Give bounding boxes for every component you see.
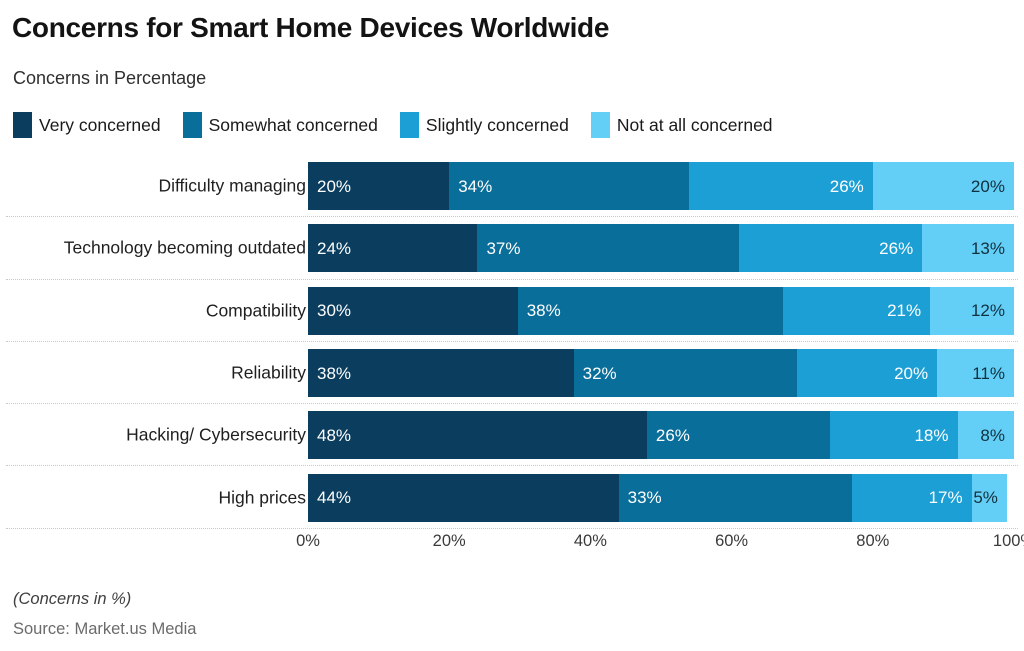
- category-label: High prices: [218, 487, 306, 508]
- legend-item-0[interactable]: Very concerned: [13, 112, 161, 138]
- chart-page: Concerns for Smart Home Devices Worldwid…: [0, 0, 1024, 651]
- bar-segment-value: 26%: [830, 178, 864, 195]
- bar-segment-value: 11%: [972, 365, 1005, 382]
- bar-segment[interactable]: 32%: [574, 349, 798, 397]
- bar-segment[interactable]: 12%: [930, 287, 1014, 335]
- bar-segment[interactable]: 48%: [308, 411, 647, 459]
- chart-legend: Very concernedSomewhat concernedSlightly…: [13, 112, 795, 138]
- chart-subtitle: Concerns in Percentage: [13, 68, 206, 89]
- category-label: Compatibility: [206, 300, 306, 321]
- bar-segment[interactable]: 38%: [308, 349, 574, 397]
- bar-segment[interactable]: 5%: [972, 474, 1007, 522]
- bar-segment-value: 20%: [971, 178, 1005, 195]
- legend-item-1[interactable]: Somewhat concerned: [183, 112, 378, 138]
- bar-segment-value: 20%: [894, 365, 928, 382]
- bar-segment[interactable]: 44%: [308, 474, 619, 522]
- chart-row: Compatibility30%38%21%12%: [0, 280, 1024, 342]
- chart-row: Hacking/ Cybersecurity48%26%18%8%: [0, 404, 1024, 466]
- bar-segment[interactable]: 17%: [852, 474, 972, 522]
- legend-item-2[interactable]: Slightly concerned: [400, 112, 569, 138]
- bar-segment-value: 8%: [980, 427, 1005, 444]
- bar-segment[interactable]: 30%: [308, 287, 518, 335]
- bar-segment[interactable]: 20%: [873, 162, 1014, 210]
- bar-segment[interactable]: 8%: [958, 411, 1014, 459]
- bar-segment-value: 48%: [317, 427, 351, 444]
- x-axis-tick-label: 80%: [856, 532, 889, 551]
- category-label: Technology becoming outdated: [64, 238, 306, 259]
- chart-row: Reliability38%32%20%11%: [0, 342, 1024, 404]
- legend-item-3[interactable]: Not at all concerned: [591, 112, 773, 138]
- legend-swatch-icon: [400, 112, 419, 138]
- chart-plot-area: Difficulty managing20%34%26%20%Technolog…: [0, 155, 1024, 530]
- bar-segment[interactable]: 37%: [477, 224, 738, 272]
- chart-source: Source: Market.us Media: [13, 620, 196, 639]
- stacked-bar: 48%26%18%8%: [308, 411, 1014, 459]
- category-label: Reliability: [231, 363, 306, 384]
- bar-segment-value: 32%: [583, 365, 617, 382]
- bar-segment[interactable]: 38%: [518, 287, 784, 335]
- x-axis-tick-label: 0%: [296, 532, 320, 551]
- category-label: Difficulty managing: [158, 176, 306, 197]
- bar-segment-value: 24%: [317, 240, 351, 257]
- legend-swatch-icon: [591, 112, 610, 138]
- legend-item-label: Not at all concerned: [617, 115, 773, 136]
- bar-segment-value: 5%: [973, 489, 998, 506]
- legend-item-label: Slightly concerned: [426, 115, 569, 136]
- stacked-bar: 38%32%20%11%: [308, 349, 1014, 397]
- bar-segment-value: 18%: [914, 427, 948, 444]
- bar-segment-value: 34%: [458, 178, 492, 195]
- bar-segment[interactable]: 13%: [922, 224, 1014, 272]
- chart-row: High prices44%33%17%5%: [0, 466, 1024, 528]
- bar-segment-value: 33%: [628, 489, 662, 506]
- bar-segment[interactable]: 26%: [647, 411, 831, 459]
- stacked-bar: 20%34%26%20%: [308, 162, 1014, 210]
- chart-row: Difficulty managing20%34%26%20%: [0, 155, 1024, 217]
- bar-segment-value: 30%: [317, 302, 351, 319]
- chart-row: Technology becoming outdated24%37%26%13%: [0, 217, 1024, 279]
- x-axis: 0%20%40%60%80%100%: [308, 532, 1014, 556]
- legend-item-label: Very concerned: [39, 115, 161, 136]
- bar-segment[interactable]: 34%: [449, 162, 689, 210]
- bar-segment[interactable]: 33%: [619, 474, 852, 522]
- stacked-bar: 30%38%21%12%: [308, 287, 1014, 335]
- bar-segment-value: 21%: [887, 302, 921, 319]
- bar-segment[interactable]: 24%: [308, 224, 477, 272]
- x-axis-tick-label: 100%: [993, 532, 1024, 551]
- page-title: Concerns for Smart Home Devices Worldwid…: [12, 12, 609, 44]
- chart-footnote: (Concerns in %): [13, 590, 131, 609]
- legend-item-label: Somewhat concerned: [209, 115, 378, 136]
- row-divider: [6, 528, 1018, 529]
- bar-segment-value: 26%: [656, 427, 690, 444]
- stacked-bar: 44%33%17%5%: [308, 474, 1014, 522]
- bar-segment-value: 44%: [317, 489, 351, 506]
- bar-segment-value: 37%: [486, 240, 520, 257]
- legend-swatch-icon: [183, 112, 202, 138]
- legend-swatch-icon: [13, 112, 32, 138]
- bar-segment[interactable]: 20%: [797, 349, 937, 397]
- bar-segment[interactable]: 18%: [830, 411, 957, 459]
- category-label: Hacking/ Cybersecurity: [126, 425, 306, 446]
- bar-segment[interactable]: 20%: [308, 162, 449, 210]
- bar-segment[interactable]: 21%: [783, 287, 930, 335]
- x-axis-tick-label: 20%: [433, 532, 466, 551]
- bar-segment[interactable]: 26%: [739, 224, 923, 272]
- x-axis-tick-label: 60%: [715, 532, 748, 551]
- bar-segment-value: 38%: [527, 302, 561, 319]
- bar-segment-value: 13%: [971, 240, 1005, 257]
- bar-segment-value: 17%: [929, 489, 963, 506]
- bar-segment[interactable]: 26%: [689, 162, 873, 210]
- x-axis-tick-label: 40%: [574, 532, 607, 551]
- bar-segment-value: 26%: [879, 240, 913, 257]
- bar-segment-value: 20%: [317, 178, 351, 195]
- bar-segment[interactable]: 11%: [937, 349, 1014, 397]
- stacked-bar: 24%37%26%13%: [308, 224, 1014, 272]
- bar-segment-value: 38%: [317, 365, 351, 382]
- bar-segment-value: 12%: [971, 302, 1005, 319]
